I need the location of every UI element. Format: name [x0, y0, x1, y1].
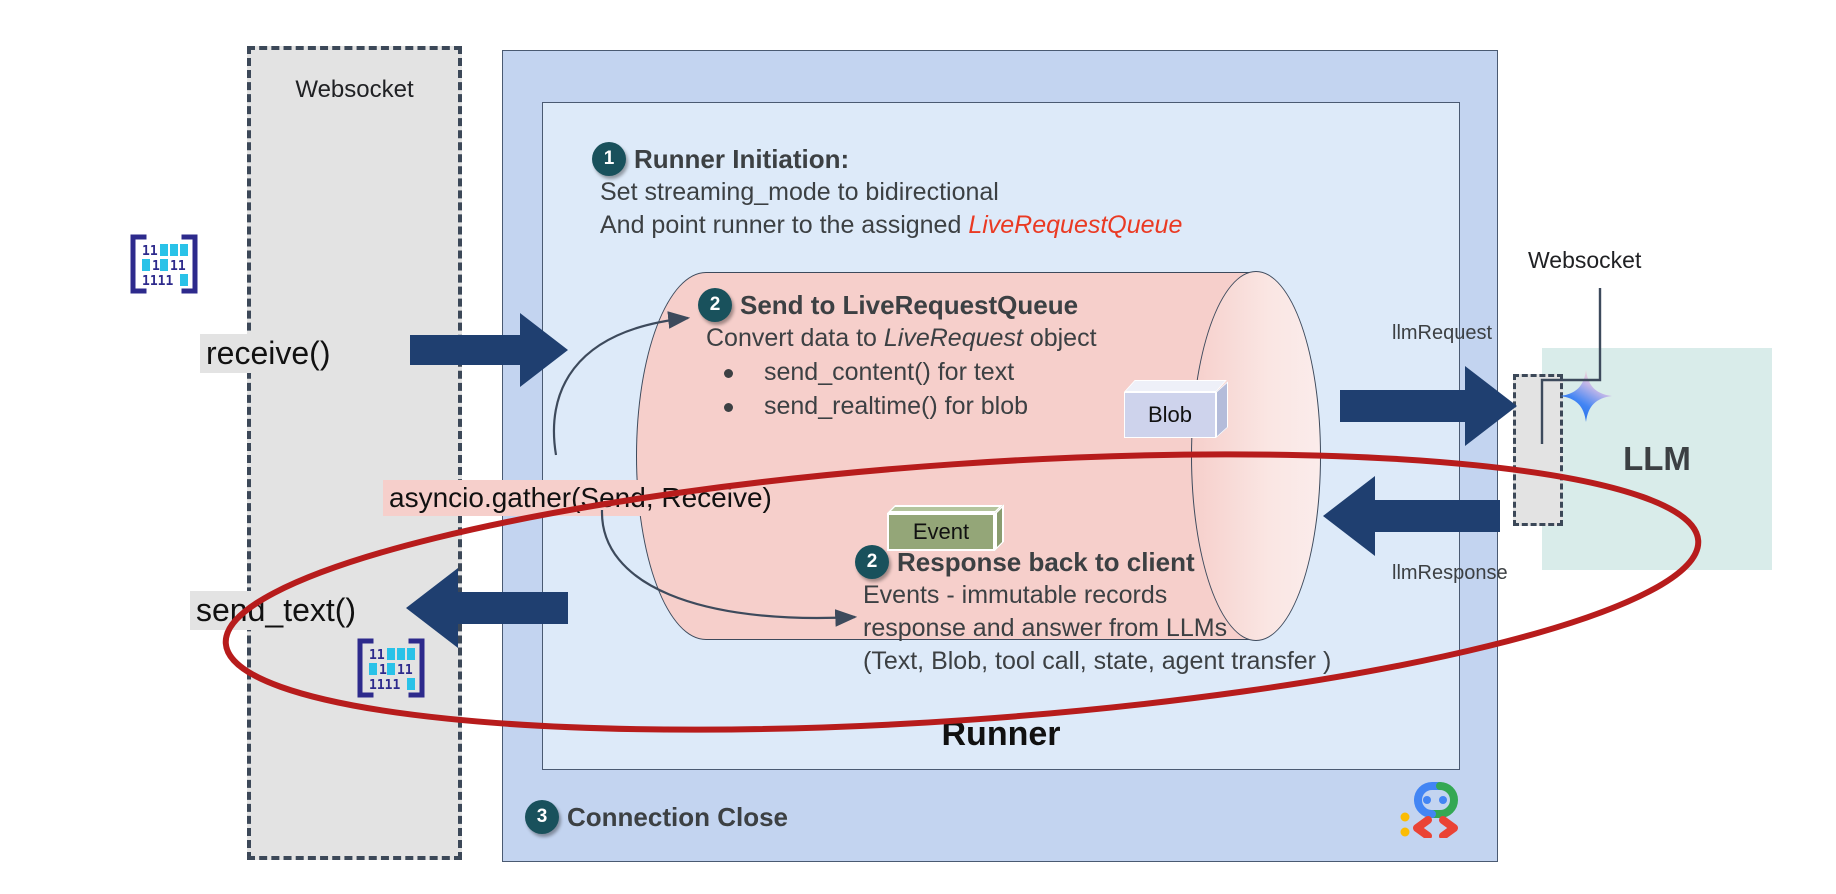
llm-response-label: llmResponse [1392, 562, 1508, 585]
llm-request-label: llmRequest [1392, 322, 1492, 345]
client-websocket-label: Websocket [247, 76, 462, 104]
step-1-header: 1 Runner Initiation: [592, 142, 1352, 176]
llm-name-label: LLM [1542, 440, 1772, 478]
svg-text:1: 1 [152, 259, 160, 274]
receive-label: receive() [200, 334, 336, 373]
step-2-response-back-to-client: 2 Response back to client Events - immut… [855, 545, 1415, 678]
event-box-side-face [995, 504, 1004, 551]
blob-object-box: Blob [1124, 380, 1228, 438]
step-2-send-title: Send to LiveRequestQueue [740, 288, 1078, 322]
blob-box-label: Blob [1124, 392, 1216, 438]
step-2-response-line-1: Events - immutable records [855, 579, 1415, 612]
asyncio-gather-label: asyncio.gather(Send, Receive) [383, 480, 778, 516]
step-1-badge: 1 [592, 142, 626, 176]
blob-box-side-face [1216, 381, 1228, 438]
adk-robot-logo-icon [1398, 770, 1470, 838]
step-3-header: 3 Connection Close [525, 800, 788, 834]
svg-text:1111: 1111 [369, 678, 400, 693]
event-box-top-face [887, 505, 1003, 513]
gemini-sparkle-icon [1558, 368, 1614, 424]
blob-box-top-face [1124, 380, 1227, 392]
svg-text:11: 11 [369, 648, 385, 663]
step-3-title: Connection Close [567, 800, 788, 834]
step-2-send-header: 2 Send to LiveRequestQueue [698, 288, 1218, 322]
step-2-response-line-2: response and answer from LLMs [855, 612, 1415, 645]
step-1-line-1: Set streaming_mode to bidirectional [592, 176, 1352, 209]
svg-text:1111: 1111 [142, 274, 173, 289]
client-websocket-box [247, 46, 462, 860]
step-1-title: Runner Initiation: [634, 142, 849, 176]
binary-data-icon: 11 1 11 1111 [128, 233, 200, 295]
diagram-canvas: Websocket 1 Runner Initiation: Set strea… [0, 0, 1836, 894]
step-2-response-line-3: (Text, Blob, tool call, state, agent tra… [855, 645, 1415, 678]
step-2-line-suffix: object [1023, 324, 1097, 352]
step-1-line-2-text: And point runner to the assigned [600, 211, 968, 239]
step-2-response-header: 2 Response back to client [855, 545, 1415, 579]
step-1-runner-initiation: 1 Runner Initiation: Set streaming_mode … [592, 142, 1352, 242]
runner-title: Runner [542, 715, 1460, 754]
llm-websocket-label: Websocket [1528, 247, 1641, 274]
step-2-line-emphasis: LiveRequest [884, 324, 1023, 352]
step-1-line-2: And point runner to the assigned LiveReq… [592, 209, 1352, 242]
svg-text:11: 11 [170, 259, 186, 274]
step-2-send-badge: 2 [698, 288, 732, 322]
step-2-line-prefix: Convert data to [706, 324, 884, 352]
svg-text:1: 1 [379, 663, 387, 678]
svg-text:11: 11 [142, 244, 158, 259]
step-3-badge: 3 [525, 800, 559, 834]
step-3-connection-close: 3 Connection Close [525, 800, 788, 834]
step-1-emphasis: LiveRequestQueue [968, 211, 1182, 239]
step-2-response-badge: 2 [855, 545, 889, 579]
send-text-label: send_text() [190, 591, 362, 630]
step-2-response-title: Response back to client [897, 545, 1195, 579]
svg-text:11: 11 [397, 663, 413, 678]
binary-data-icon: 11 1 11 1111 [355, 637, 427, 699]
step-2-send-line: Convert data to LiveRequest object [698, 322, 1218, 355]
